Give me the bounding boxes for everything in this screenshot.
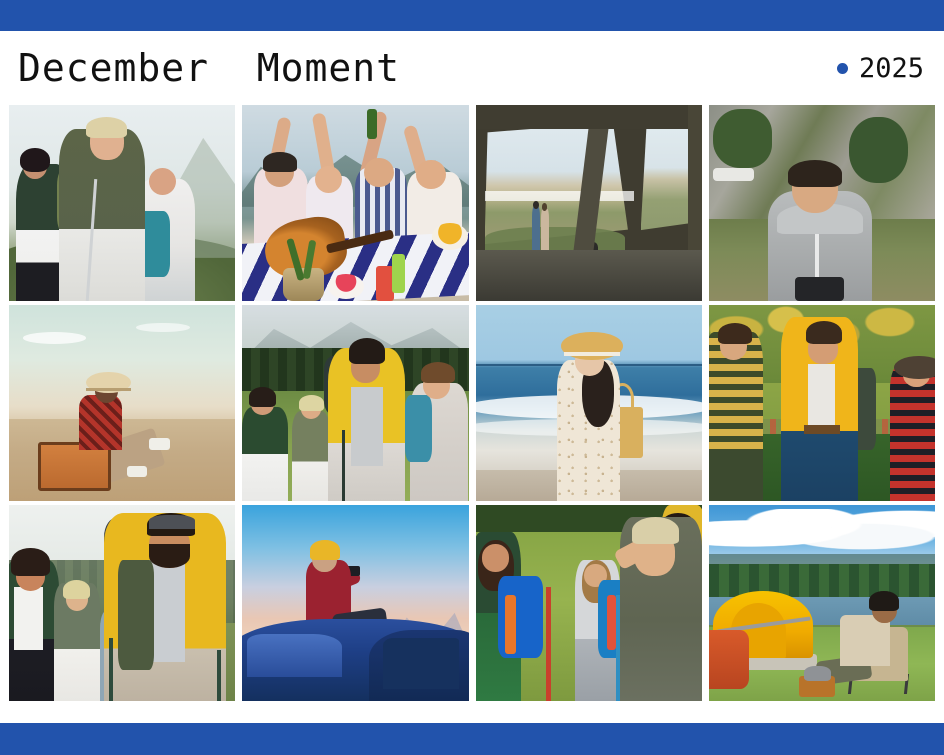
bullet-dot-icon	[837, 63, 848, 74]
photo-hikers-alpine-meadow	[242, 305, 468, 501]
year-label: 2025	[859, 55, 924, 82]
page-header: December Moment 2025	[0, 31, 944, 105]
photo-hikers-autumn-hills	[709, 305, 935, 501]
photo-man-drone-controller-cliff	[709, 105, 935, 301]
photo-cell-friends-picnic-guitar[interactable]	[242, 105, 468, 301]
photo-cell-woman-beach-ocean[interactable]	[476, 305, 702, 501]
photo-person-car-roof-sunset	[242, 505, 468, 701]
photo-van-window-beach-couple	[476, 105, 702, 301]
photo-cell-hikers-autumn-hills[interactable]	[709, 305, 935, 501]
photo-cell-van-window-beach-couple[interactable]	[476, 105, 702, 301]
page-title: December Moment	[18, 49, 400, 87]
photo-cell-hikers-selfie-mountain[interactable]	[9, 105, 235, 301]
photo-cell-camping-tent-lake[interactable]	[709, 505, 935, 701]
photo-cell-man-drone-controller-cliff[interactable]	[709, 105, 935, 301]
bottom-accent-bar	[0, 723, 944, 755]
photo-woman-beach-ocean	[476, 305, 702, 501]
top-accent-bar	[0, 0, 944, 31]
year-badge: 2025	[837, 55, 930, 82]
photo-cell-hikers-alpine-meadow[interactable]	[242, 305, 468, 501]
poster-page: December Moment 2025	[0, 0, 944, 755]
photo-friends-picnic-guitar	[242, 105, 468, 301]
photo-cell-backpackers-group-foggy[interactable]	[9, 505, 235, 701]
photo-cell-hikers-green-field[interactable]	[476, 505, 702, 701]
photo-woman-suitcase-desert	[9, 305, 235, 501]
photo-backpackers-group-foggy	[9, 505, 235, 701]
photo-hikers-selfie-mountain	[9, 105, 235, 301]
photo-grid	[9, 105, 935, 701]
photo-camping-tent-lake	[709, 505, 935, 701]
photo-cell-woman-suitcase-desert[interactable]	[9, 305, 235, 501]
photo-cell-person-car-roof-sunset[interactable]	[242, 505, 468, 701]
photo-hikers-green-field	[476, 505, 702, 701]
